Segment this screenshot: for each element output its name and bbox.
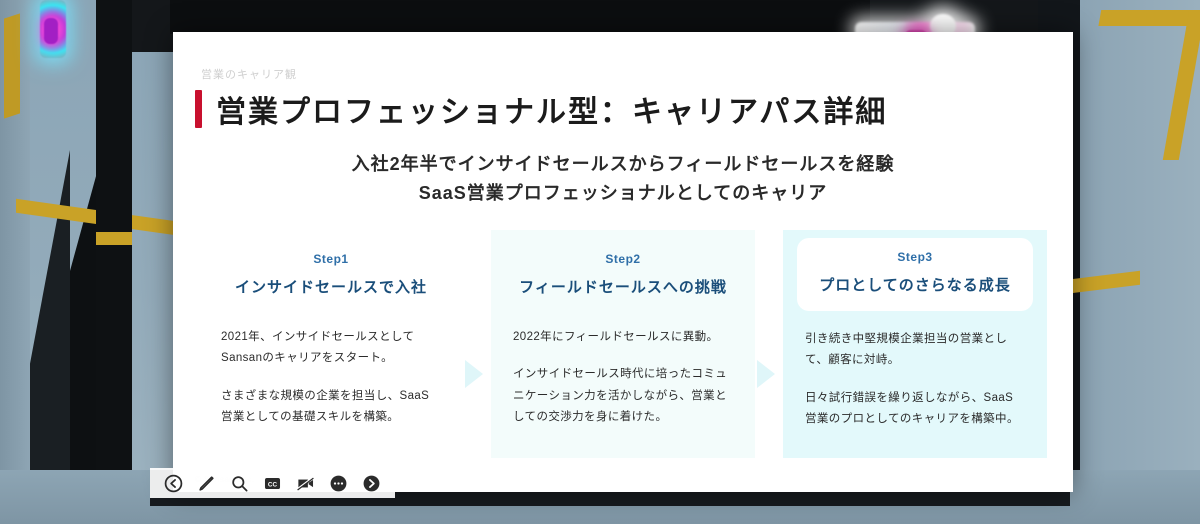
step-3-paragraph-1: 引き続き中堅規模企業担当の営業として、顧客に対峙。 [805,329,1025,372]
slide-subtitle: 入社2年半でインサイドセールスからフィールドセールスを経験 SaaS営業プロフェ… [173,150,1073,208]
step-card-3[interactable]: Step3 プロとしてのさらなる成長 引き続き中堅規模企業担当の営業として、顧客… [783,230,1047,458]
step-3-title: プロとしてのさらなる成長 [803,274,1027,295]
presentation-slide[interactable]: 営業のキャリア観 営業プロフェッショナル型：キャリアパス詳細 入社2年半でインサ… [173,32,1073,492]
step-1-paragraph-1: 2021年、インサイドセールスとしてSansanのキャリアをスタート。 [221,327,441,370]
step-card-1[interactable]: Step1 インサイドセールスで入社 2021年、インサイドセールスとしてSan… [199,230,463,458]
step-3-label: Step3 [803,250,1027,264]
page-title: 営業プロフェッショナル型：キャリアパス詳細 [216,87,887,131]
pen-icon[interactable] [197,474,216,493]
step-2-label: Step2 [515,252,731,266]
presentation-toolbar[interactable]: CC [150,468,395,498]
venue-ceiling-band-inner [170,0,870,34]
step-1-body: 2021年、インサイドセールスとしてSansanのキャリアをスタート。 さまざま… [217,327,445,428]
arrow-right-icon [757,360,775,388]
step-3-header: Step3 プロとしてのさらなる成長 [797,238,1033,311]
closed-caption-icon[interactable]: CC [263,474,282,493]
step-arrow-1-to-2 [463,230,491,458]
step-arrow-2-to-3 [755,230,783,458]
step-2-title: フィールドセールスへの挑戦 [515,276,731,297]
title-accent-bar [195,90,202,128]
step-2-paragraph-1: 2022年にフィールドセールスに異動。 [513,327,733,348]
virtual-venue-background: 営業のキャリア観 営業プロフェッショナル型：キャリアパス詳細 入社2年半でインサ… [0,0,1200,524]
chat-icon[interactable] [329,474,348,493]
step-1-title: インサイドセールスで入社 [223,276,439,297]
step-columns: Step1 インサイドセールスで入社 2021年、インサイドセールスとしてSan… [199,230,1047,458]
slide-kicker: 営業のキャリア観 [201,66,297,82]
venue-left-gold-trim [4,13,20,118]
svg-text:CC: CC [268,481,278,488]
arrow-right-icon [465,360,483,388]
subtitle-line-1: 入社2年半でインサイドセールスからフィールドセールスを経験 [173,150,1073,179]
step-2-header: Step2 フィールドセールスへの挑戦 [509,242,737,309]
step-1-header: Step1 インサイドセールスで入社 [217,242,445,309]
camera-off-icon[interactable] [296,474,315,493]
step-1-label: Step1 [223,252,439,266]
step-1-paragraph-2: さまざまな規模の企業を担当し、SaaS営業としての基礎スキルを構築。 [221,386,441,429]
forward-arrow-icon[interactable] [362,474,381,493]
step-2-body: 2022年にフィールドセールスに異動。 インサイドセールス時代に培ったコミュニケ… [509,327,737,428]
step-3-paragraph-2: 日々試行錯誤を繰り返しながら、SaaS営業のプロとしてのキャリアを構築中。 [805,388,1025,431]
step-card-2[interactable]: Step2 フィールドセールスへの挑戦 2022年にフィールドセールスに異動。 … [491,230,755,458]
magnifier-icon[interactable] [230,474,249,493]
subtitle-line-2: SaaS営業プロフェッショナルとしてのキャリア [173,179,1073,208]
back-arrow-icon[interactable] [164,474,183,493]
slide-title-row: 営業プロフェッショナル型：キャリアパス詳細 [195,87,887,131]
step-3-body: 引き続き中堅規模企業担当の営業として、顧客に対峙。 日々試行錯誤を繰り返しながら… [801,329,1029,430]
neon-sign-left-core [44,18,58,44]
step-2-paragraph-2: インサイドセールス時代に培ったコミュニケーション力を活かしながら、営業としての交… [513,364,733,428]
venue-pillar-left-gold-band [96,232,132,245]
